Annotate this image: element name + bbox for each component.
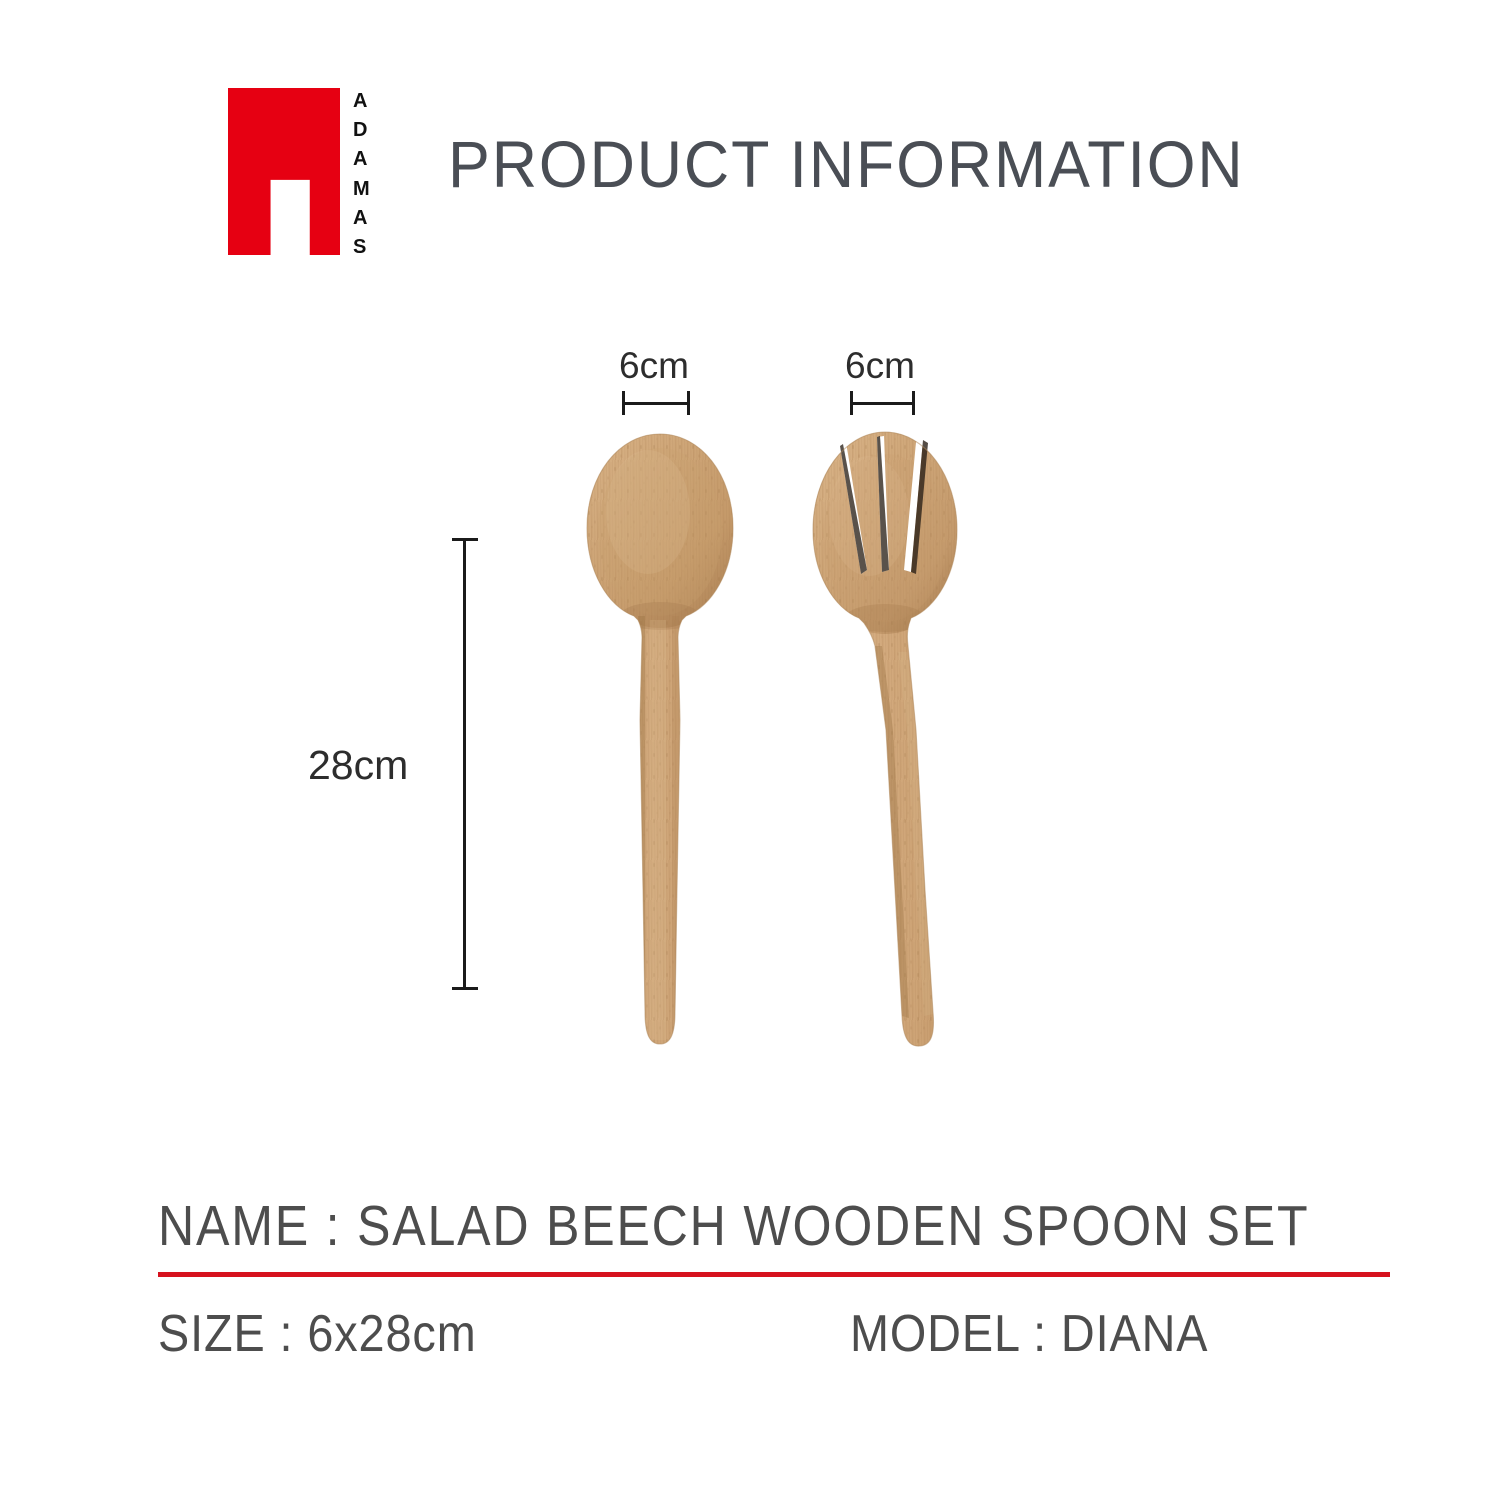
spec-model: MODEL : DIANA xyxy=(850,1308,1208,1360)
wooden-serving-spoon-illustration xyxy=(560,420,760,1080)
spec-size: SIZE : 6x28cm xyxy=(158,1308,477,1360)
spec-divider xyxy=(158,1272,1390,1277)
dimension-cap-bottom xyxy=(452,987,478,990)
brand-logo: A D A M A S xyxy=(228,88,398,260)
fork-width-dimension-line xyxy=(850,391,915,415)
product-image-stage xyxy=(560,420,1010,1080)
wordmark-letter: D xyxy=(353,120,367,140)
dimension-bar xyxy=(463,538,466,990)
adamas-wordmark: A D A M A S xyxy=(353,91,383,257)
dimension-bar xyxy=(622,402,690,405)
wordmark-letter: A xyxy=(353,208,367,228)
spoon-width-dimension-line xyxy=(622,391,690,415)
dimension-cap-right xyxy=(687,391,690,415)
dimension-cap-right xyxy=(912,391,915,415)
wordmark-letter: S xyxy=(353,237,366,257)
wordmark-letter: M xyxy=(353,179,370,199)
height-label: 28cm xyxy=(308,745,408,786)
wordmark-letter: A xyxy=(353,91,367,111)
product-information-sheet: A D A M A S PRODUCT INFORMATION 6cm 6cm … xyxy=(0,0,1500,1500)
dimension-bar xyxy=(850,402,915,405)
fork-width-label: 6cm xyxy=(845,347,915,384)
wooden-serving-fork-illustration xyxy=(785,420,985,1080)
spec-name: NAME : SALAD BEECH WOODEN SPOON SET xyxy=(158,1198,1309,1255)
page-title: PRODUCT INFORMATION xyxy=(448,131,1245,197)
height-dimension-line xyxy=(452,538,478,990)
spec-block: NAME : SALAD BEECH WOODEN SPOON SET SIZE… xyxy=(158,1198,1390,1383)
adamas-logo-mark-icon xyxy=(228,88,340,255)
wordmark-letter: A xyxy=(353,149,367,169)
spoon-width-label: 6cm xyxy=(619,347,689,384)
